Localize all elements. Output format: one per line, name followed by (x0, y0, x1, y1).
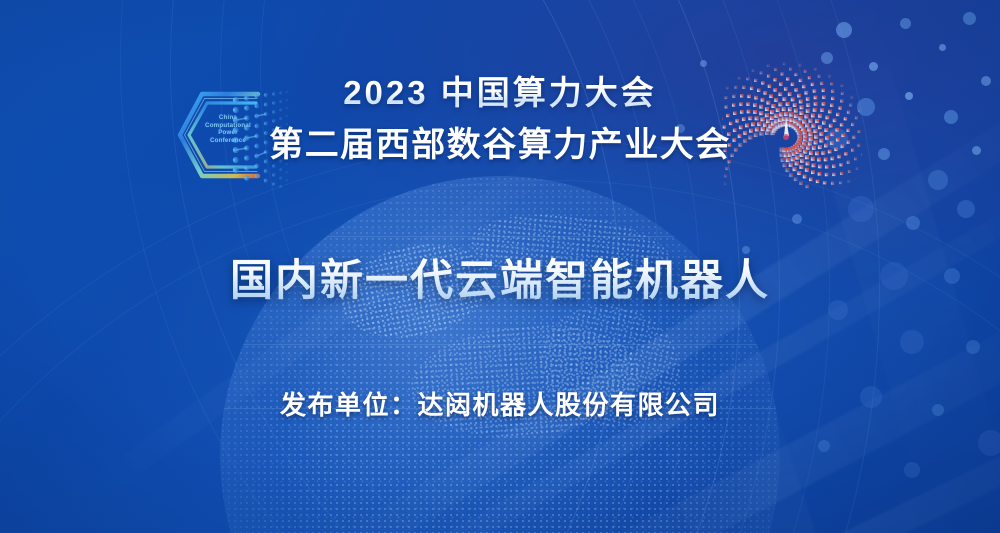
logo-text: China Computational Power Conference (197, 114, 259, 144)
publisher-line: 发布单位：达闼机器人股份有限公司 (0, 385, 1000, 422)
logo-text-line-2: Computational (197, 122, 259, 130)
dotted-earth-globe (220, 176, 780, 533)
main-headline-text: 国内新一代云端智能机器人 (230, 246, 770, 308)
logo-text-line-4: Conference (197, 137, 259, 145)
radial-spiral-dot-graphic (722, 58, 862, 190)
main-headline: 国内新一代云端智能机器人 (0, 246, 1000, 308)
logo-text-line-1: China (197, 114, 259, 122)
conference-title-line-1: 2023 中国算力大会 (343, 72, 657, 113)
conference-poster: China Computational Power Conference (0, 0, 1000, 533)
publisher-text: 发布单位：达闼机器人股份有限公司 (280, 385, 720, 422)
conference-logo: China Computational Power Conference (172, 74, 294, 196)
logo-text-line-3: Power (197, 129, 259, 137)
